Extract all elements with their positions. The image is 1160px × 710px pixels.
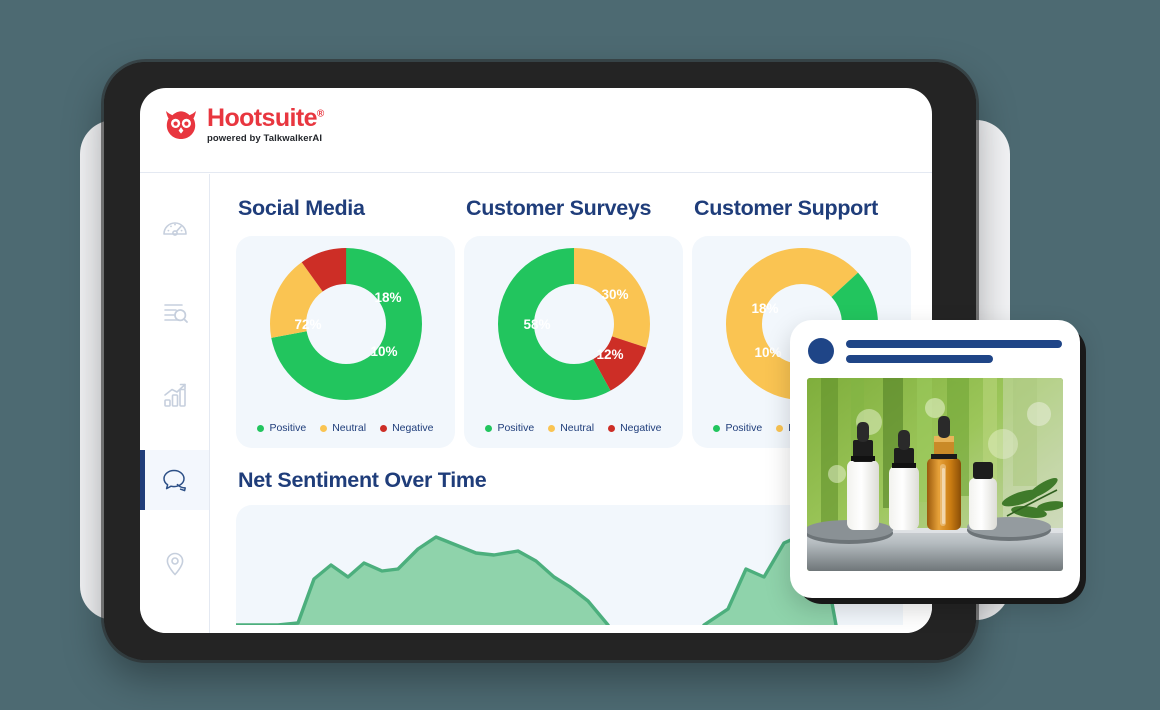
legend-neutral: Neutral bbox=[548, 422, 594, 434]
analytics-bar-chart-icon bbox=[160, 381, 190, 411]
post-text-placeholder bbox=[846, 340, 1062, 363]
legend-dot-neutral bbox=[548, 425, 555, 432]
slice-label-negative: 12% bbox=[596, 347, 623, 362]
placeholder-line-1 bbox=[846, 340, 1062, 348]
legend-negative: Negative bbox=[608, 422, 661, 434]
slice-label-neutral: 30% bbox=[601, 287, 628, 302]
legend-dot-neutral bbox=[776, 425, 783, 432]
panel-social-media: Social Media 72% 18% bbox=[236, 196, 455, 448]
chart-legend: Positive Neutral Negative bbox=[464, 422, 683, 434]
cosmetic-bottles-photo bbox=[807, 378, 1063, 571]
sidebar-nav bbox=[140, 174, 210, 633]
panel-title: Customer Surveys bbox=[466, 196, 683, 221]
legend-label-neutral: Neutral bbox=[560, 422, 594, 434]
legend-negative: Negative bbox=[380, 422, 433, 434]
donut-chart-card: 58% 30% 12% Positive Neutral Negative bbox=[464, 236, 683, 448]
sidebar-item-locations[interactable] bbox=[140, 534, 209, 594]
sidebar-item-conversations[interactable] bbox=[140, 450, 209, 510]
gauge-icon bbox=[160, 213, 190, 243]
avatar bbox=[808, 338, 834, 364]
sidebar-item-dashboard[interactable] bbox=[140, 198, 209, 258]
chart-legend: Positive Neutral Negative bbox=[236, 422, 455, 434]
owl-logo-icon bbox=[164, 110, 198, 140]
legend-dot-negative bbox=[380, 425, 387, 432]
legend-dot-neutral bbox=[320, 425, 327, 432]
post-header bbox=[790, 320, 1080, 378]
brand-logo[interactable]: Hootsuite® powered by TalkwalkerAI bbox=[164, 106, 324, 144]
brand-name: Hootsuite® bbox=[207, 106, 324, 131]
legend-dot-positive bbox=[257, 425, 264, 432]
panel-customer-surveys: Customer Surveys 58% 30% bbox=[464, 196, 683, 448]
slice-label-positive: 58% bbox=[523, 317, 550, 332]
registered-mark: ® bbox=[317, 109, 324, 120]
legend-dot-positive bbox=[713, 425, 720, 432]
legend-label-neutral: Neutral bbox=[332, 422, 366, 434]
donut-chart-customer-surveys[interactable]: 58% 30% 12% bbox=[464, 244, 683, 404]
chat-bubbles-icon bbox=[160, 465, 190, 495]
slice-label-negative: 10% bbox=[754, 345, 781, 360]
brand-tagline: powered by TalkwalkerAI bbox=[207, 134, 324, 144]
legend-label-positive: Positive bbox=[497, 422, 534, 434]
slice-label-positive: 72% bbox=[294, 317, 321, 332]
legend-dot-negative bbox=[608, 425, 615, 432]
legend-positive: Positive bbox=[713, 422, 762, 434]
slice-label-neutral: 18% bbox=[374, 290, 401, 305]
post-preview-card[interactable] bbox=[790, 320, 1080, 598]
donut-svg: 58% 30% 12% bbox=[494, 244, 654, 404]
legend-label-positive: Positive bbox=[269, 422, 306, 434]
legend-positive: Positive bbox=[257, 422, 306, 434]
legend-label-negative: Negative bbox=[392, 422, 433, 434]
location-pin-icon bbox=[160, 549, 190, 579]
legend-positive: Positive bbox=[485, 422, 534, 434]
app-header: Hootsuite® powered by TalkwalkerAI bbox=[140, 88, 932, 173]
donut-chart-social-media[interactable]: 72% 18% 10% bbox=[236, 244, 455, 404]
legend-label-negative: Negative bbox=[620, 422, 661, 434]
donut-svg: 72% 18% 10% bbox=[266, 244, 426, 404]
sidebar-item-analytics[interactable] bbox=[140, 366, 209, 426]
slice-label-positive: 18% bbox=[751, 301, 778, 316]
legend-neutral: Neutral bbox=[320, 422, 366, 434]
brand-text: Hootsuite® powered by TalkwalkerAI bbox=[207, 106, 324, 144]
panel-title: Social Media bbox=[238, 196, 455, 221]
screenshot-stage: Hootsuite® powered by TalkwalkerAI bbox=[0, 0, 1160, 710]
post-image bbox=[807, 378, 1063, 571]
sidebar-item-search[interactable] bbox=[140, 282, 209, 342]
panel-title: Customer Support bbox=[694, 196, 911, 221]
search-list-icon bbox=[160, 297, 190, 327]
brand-name-text: Hootsuite bbox=[207, 104, 317, 132]
placeholder-line-2 bbox=[846, 355, 993, 363]
legend-label-positive: Positive bbox=[725, 422, 762, 434]
slice-label-negative: 10% bbox=[370, 344, 397, 359]
legend-dot-positive bbox=[485, 425, 492, 432]
donut-chart-card: 72% 18% 10% Positive Neutral Negative bbox=[236, 236, 455, 448]
